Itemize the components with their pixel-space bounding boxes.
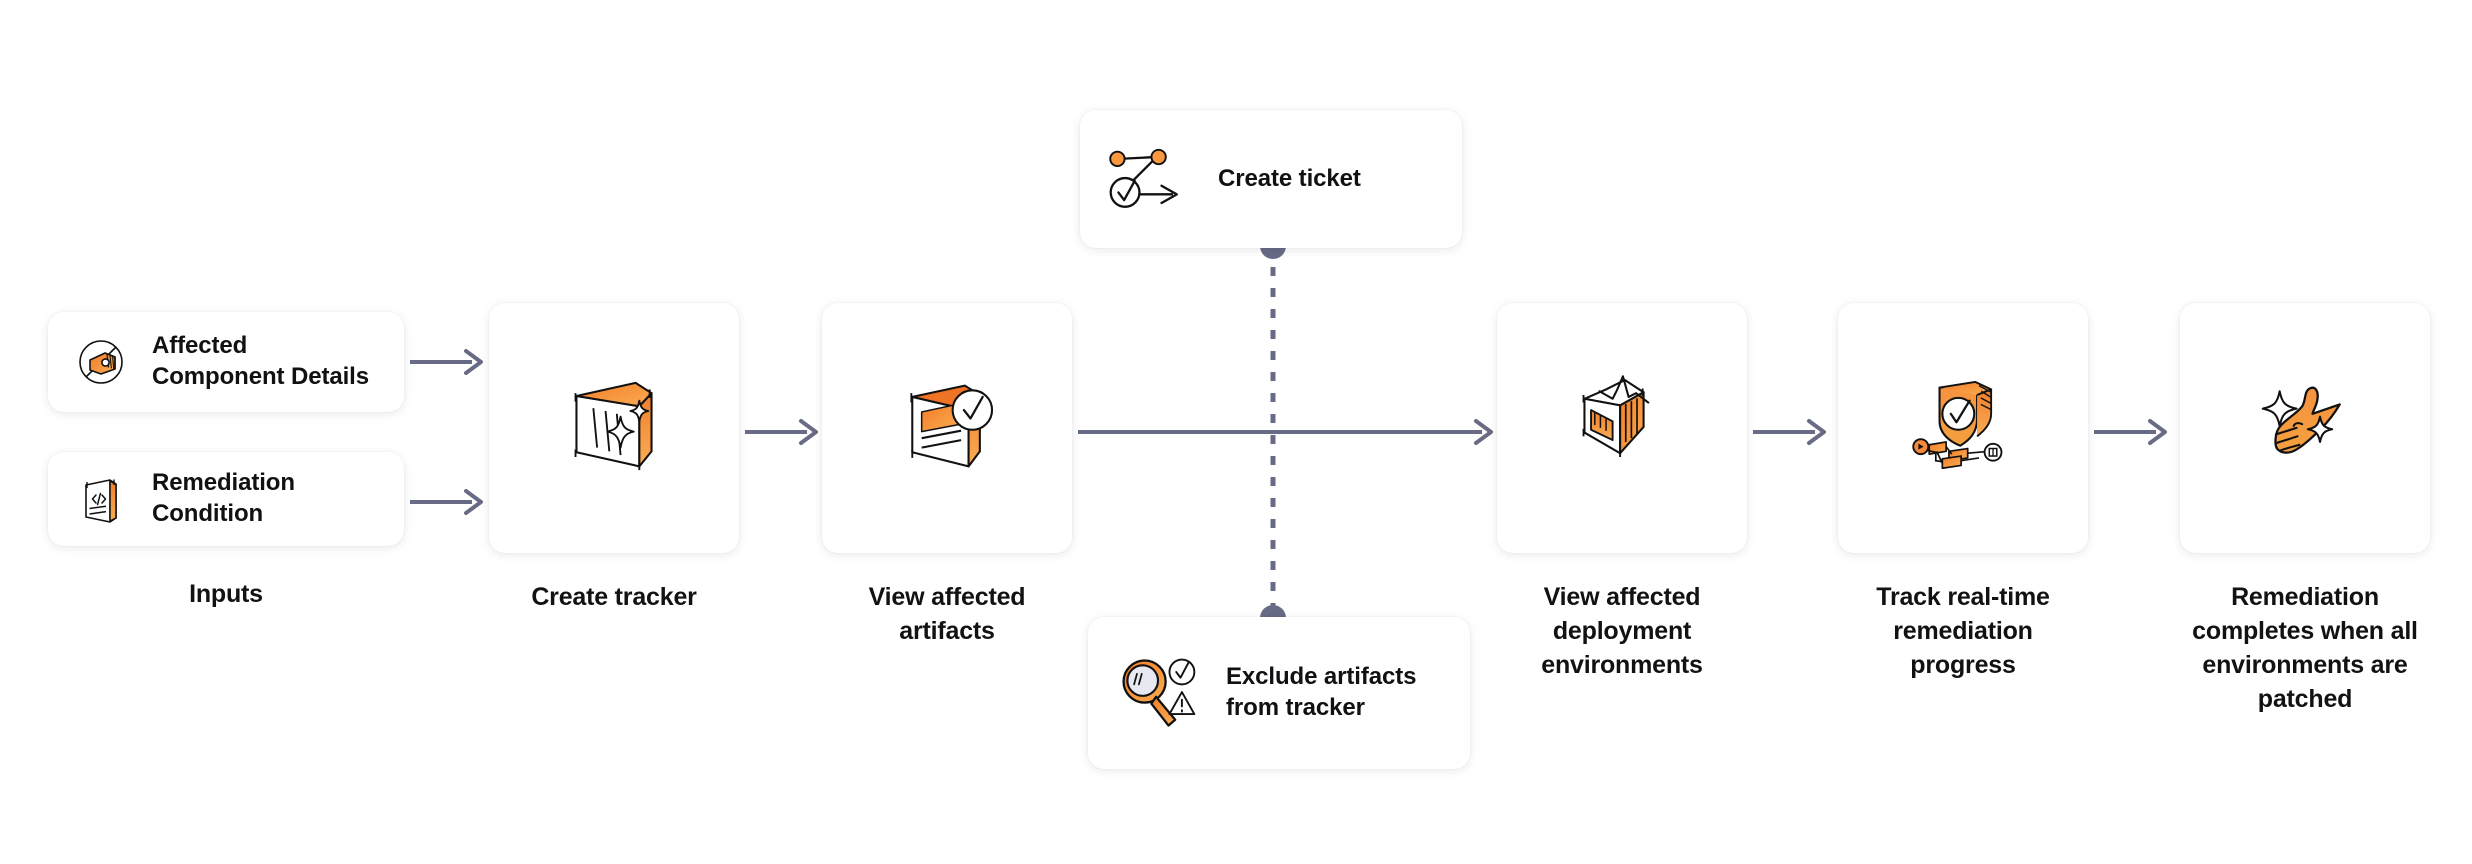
inputs-group-label: Inputs [48,580,404,609]
branch-card-exclude-artifacts-from-tracker[interactable]: Exclude artifacts from tracker [1088,617,1470,769]
step-label-view-affected-deployment-environments: View affected deployment environments [1477,580,1767,682]
thumbs-up-sparkle-icon [2244,365,2366,492]
arrow-view-affected-deployment-environments-to-track-real-time-remediation-progress [1753,416,1835,448]
arrow-remediation-condition-to-create-tracker [410,486,492,518]
branch-label-line2: from tracker [1226,694,1365,721]
arrow-affected-component-to-create-tracker [410,346,492,378]
ticket-flow-check-icon [1102,139,1198,219]
arrow-view-affected-artifacts-to-view-affected-deployment-environments [1078,416,1503,448]
input-label-line2: Condition [152,500,263,527]
branch-label-exclude-artifacts-from-tracker: Exclude artifacts from tracker [1226,662,1416,723]
code-document-icon [70,468,132,530]
input-label-line2: Component Details [152,363,369,390]
step-card-create-tracker[interactable] [489,303,739,553]
input-label-affected-component-details: Affected Component Details [152,331,369,392]
step-label-create-tracker: Create tracker [469,580,759,614]
input-card-remediation-condition[interactable]: Remediation Condition [48,452,404,546]
workflow-diagram: Affected Component Details Remediation C… [0,0,2472,864]
branch-card-create-ticket[interactable]: Create ticket [1080,110,1462,248]
arrow-track-real-time-remediation-progress-to-remediation-completes [2094,416,2176,448]
branch-dashed-connector [1260,240,1286,628]
shield-check-pipeline-icon [1902,365,2024,492]
branch-label-line1: Exclude artifacts [1226,663,1416,690]
branch-label-create-ticket: Create ticket [1218,164,1361,195]
step-card-view-affected-deployment-environments[interactable] [1497,303,1747,553]
input-label-line1: Remediation [152,469,295,496]
step-card-remediation-completes[interactable] [2180,303,2430,553]
step-card-view-affected-artifacts[interactable] [822,303,1072,553]
container-cube-pulse-icon [1561,365,1683,492]
input-label-remediation-condition: Remediation Condition [152,468,295,529]
blocked-component-icon [70,331,132,393]
step-label-remediation-completes: Remediation completes when all environme… [2150,580,2460,716]
document-check-icon [886,365,1008,492]
tracker-board-sparkle-icon [553,365,675,492]
input-label-line1: Affected [152,332,247,359]
step-card-track-real-time-remediation-progress[interactable] [1838,303,2088,553]
input-card-affected-component-details[interactable]: Affected Component Details [48,312,404,412]
arrow-create-tracker-to-view-affected-artifacts [745,416,827,448]
magnifier-check-warning-icon [1110,647,1206,739]
step-label-view-affected-artifacts: View affected artifacts [802,580,1092,648]
step-label-track-real-time-remediation-progress: Track real-time remediation progress [1818,580,2108,682]
